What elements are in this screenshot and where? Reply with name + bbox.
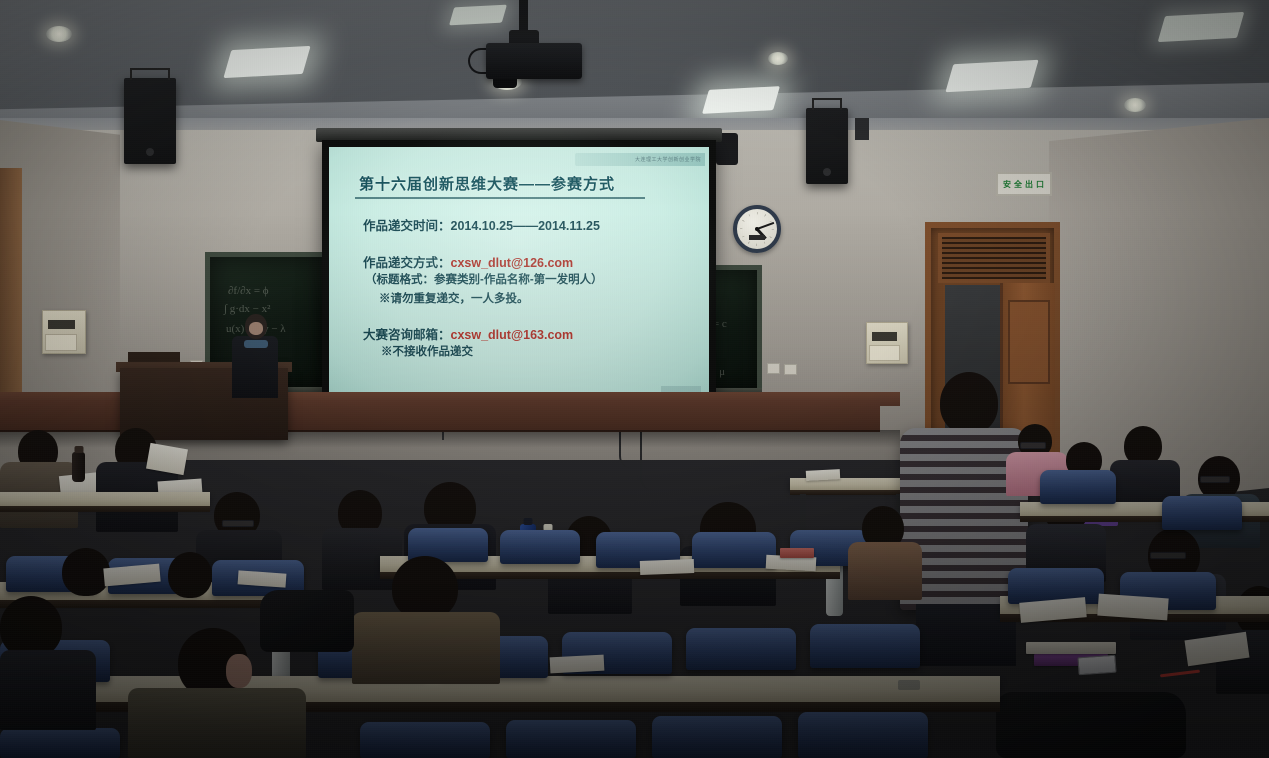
- paper-sheet: [640, 559, 694, 575]
- door-panel: [1008, 300, 1050, 384]
- seat[interactable]: [0, 728, 120, 758]
- left-wall-trim: [0, 168, 22, 408]
- desk-row: [0, 492, 210, 506]
- seat[interactable]: [1040, 470, 1116, 504]
- ceiling-light-panel: [223, 46, 310, 78]
- slide-email-163: cxsw_dlut@163.com: [451, 328, 574, 342]
- slide-line-label: （标题格式：参赛类别-作品名称-第一发明人）: [365, 274, 603, 286]
- seat[interactable]: [810, 624, 920, 668]
- wall-outlet[interactable]: [767, 363, 780, 374]
- student-torso: [848, 542, 922, 600]
- control-box-lid: [45, 334, 78, 352]
- bottle-cap: [524, 518, 533, 525]
- projector-mount-pole: [519, 0, 528, 34]
- wall-bracket-right: [855, 118, 869, 140]
- exit-sign-char: 出: [1025, 179, 1034, 190]
- door-transom-louver: [938, 233, 1050, 283]
- projector-lens: [493, 79, 517, 88]
- speaker-cone: [146, 148, 154, 156]
- control-box-display: [48, 320, 75, 329]
- presentation-slide: 大连理工大学创新创业学院 第十六届创新思维大赛——参赛方式 作品递交时间：201…: [329, 147, 709, 398]
- exit-sign-char: 口: [1036, 179, 1045, 190]
- notebook[interactable]: [1026, 642, 1116, 654]
- slide-line-value: 2014.10.25——2014.11.25: [451, 219, 600, 233]
- desk-number-decal: [898, 680, 920, 690]
- slide-title-underline: [355, 197, 645, 199]
- control-box-lid: [869, 345, 900, 362]
- glasses-icon: [1020, 442, 1046, 449]
- student-face: [226, 654, 252, 688]
- speaker-right: [806, 108, 848, 184]
- seat[interactable]: [360, 722, 490, 758]
- dark-bottle[interactable]: [72, 452, 85, 482]
- slide-header-banner: 大连理工大学创新创业学院: [575, 153, 705, 166]
- chalk-writing: ∫ g·dx − x²: [224, 303, 270, 315]
- speaker-bracket: [812, 98, 842, 110]
- backpack[interactable]: [996, 692, 1186, 758]
- presenter-face: [249, 322, 263, 335]
- slide-line-no-accept: ※不接收作品递交: [381, 343, 473, 359]
- ceiling-light-panel: [1158, 12, 1245, 42]
- slide-line-consult-mail: 大赛咨询邮箱：cxsw_dlut@163.com: [363, 324, 573, 343]
- paper-sheet: [806, 469, 840, 481]
- presenter-scarf: [244, 340, 268, 348]
- slide-line-no-duplicate: ※请勿重复递交，一人多投。: [379, 290, 529, 306]
- standing-student-head: [940, 372, 998, 434]
- seat[interactable]: [652, 716, 782, 758]
- speaker-cone: [823, 168, 831, 176]
- seat[interactable]: [692, 532, 776, 568]
- exit-sign: 安 全 出 口: [996, 172, 1052, 196]
- speaker-bracket: [130, 68, 170, 80]
- seat[interactable]: [500, 530, 580, 564]
- slide-line-label: 大赛咨询邮箱：: [363, 328, 451, 342]
- ceiling-downlight: [46, 26, 72, 42]
- slide-banner-text: 大连理工大学创新创业学院: [635, 156, 701, 163]
- clock-center: [755, 227, 759, 231]
- slide-line-deadline: 作品递交时间：2014.10.25——2014.11.25: [363, 215, 600, 234]
- control-box-display: [872, 332, 898, 341]
- slide-line-label: 作品递交方式：: [363, 256, 451, 270]
- student-torso: [128, 688, 306, 758]
- wall-control-box-left: [42, 310, 86, 354]
- ceiling-light-panel: [702, 86, 780, 114]
- chalk-writing: ∂f/∂x = ϕ: [228, 285, 269, 297]
- ceiling-light-panel: [945, 60, 1038, 92]
- ceiling-projector: [486, 43, 582, 79]
- ceiling-downlight: [768, 52, 788, 65]
- exit-sign-char: 安: [1003, 179, 1012, 190]
- seat[interactable]: [1162, 496, 1242, 530]
- exit-sign-char: 全: [1014, 179, 1023, 190]
- pen[interactable]: [1124, 678, 1158, 685]
- seat[interactable]: [686, 628, 796, 670]
- front-desk-edge: [790, 490, 908, 495]
- paper-sheet: [550, 655, 605, 674]
- slide-line-title-format: （标题格式：参赛类别-作品名称-第一发明人）: [365, 271, 603, 287]
- slide-email-126: cxsw_dlut@126.com: [451, 256, 574, 270]
- slide-line-label: ※不接收作品递交: [381, 346, 473, 358]
- smartphone[interactable]: [1077, 655, 1116, 676]
- glasses-icon: [1150, 552, 1186, 559]
- pen[interactable]: [1160, 670, 1200, 678]
- seat[interactable]: [798, 712, 928, 758]
- desk-edge: [0, 506, 210, 512]
- student-torso: [0, 650, 96, 730]
- bottle-cap: [74, 446, 83, 453]
- notebook[interactable]: [780, 548, 814, 558]
- slide-line-label: 作品递交时间：: [363, 219, 451, 233]
- lecture-hall-scene: 安 全 出 口 ∂f/∂x = ϕ ∫ g·dx − x² u(x) = Δy …: [0, 0, 1269, 758]
- slide-line-submit-method: 作品递交方式：cxsw_dlut@126.com: [363, 252, 573, 271]
- wall-clock: [733, 205, 781, 253]
- projection-screen: 大连理工大学创新创业学院 第十六届创新思维大赛——参赛方式 作品递交时间：201…: [322, 140, 716, 405]
- seat[interactable]: [1008, 568, 1104, 604]
- wall-outlet[interactable]: [784, 364, 797, 375]
- student-head: [392, 556, 458, 620]
- glasses-icon: [222, 520, 254, 527]
- slide-line-label: ※请勿重复递交，一人多投。: [379, 293, 529, 305]
- ceiling-light-panel: [449, 5, 507, 26]
- student-torso: [352, 612, 500, 684]
- wall-control-box-right: [866, 322, 908, 364]
- clock-brand-label: [749, 235, 765, 240]
- backpack[interactable]: [260, 590, 354, 652]
- glasses-icon: [1200, 476, 1230, 483]
- student-head: [0, 596, 62, 658]
- ceiling-downlight: [1124, 98, 1146, 112]
- slide-title: 第十六届创新思维大赛——参赛方式: [359, 173, 615, 194]
- student-head: [168, 552, 212, 598]
- speaker-left: [124, 78, 176, 164]
- seat[interactable]: [506, 720, 636, 758]
